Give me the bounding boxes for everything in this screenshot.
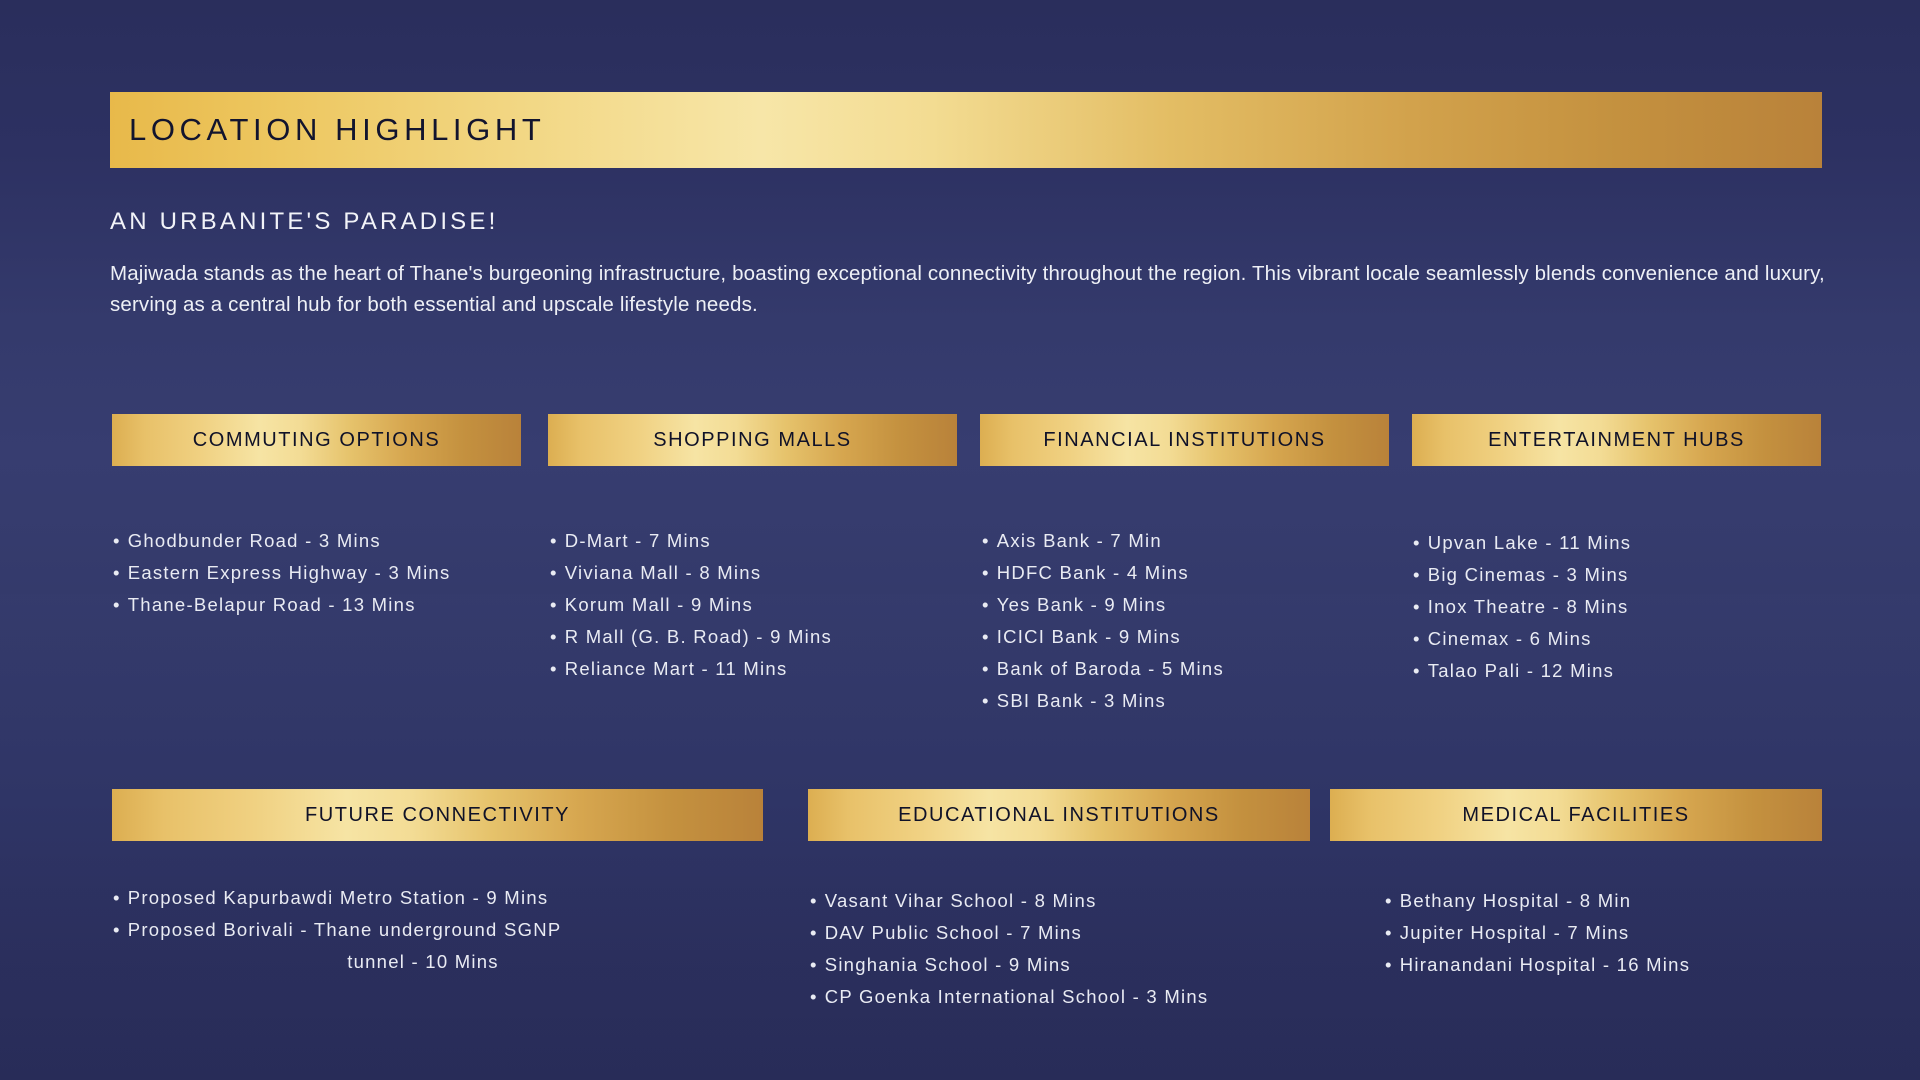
list-item: •Hiranandani Hospital - 16 Mins [1385,949,1690,981]
list-item: •Cinemax - 6 Mins [1413,623,1631,655]
list-item-label: ICICI Bank - 9 Mins [997,626,1181,647]
list-item-label: Upvan Lake - 11 Mins [1428,532,1632,553]
list-item-label: Thane-Belapur Road - 13 Mins [128,594,416,615]
list-item: •SBI Bank - 3 Mins [982,685,1224,717]
list-medical-facilities: •Bethany Hospital - 8 Min•Jupiter Hospit… [1385,885,1690,981]
list-item: •D-Mart - 7 Mins [550,525,832,557]
list-educational-institutions: •Vasant Vihar School - 8 Mins•DAV Public… [810,885,1208,1013]
list-item: •DAV Public School - 7 Mins [810,917,1208,949]
bullet-icon: • [113,589,121,621]
category-header-entertainment-hubs[interactable]: ENTERTAINMENT HUBS [1412,414,1821,466]
list-item: •Inox Theatre - 8 Mins [1413,591,1631,623]
bullet-icon: • [982,653,990,685]
list-item: •Jupiter Hospital - 7 Mins [1385,917,1690,949]
list-item-label: R Mall (G. B. Road) - 9 Mins [565,626,832,647]
list-item-label: Ghodbunder Road - 3 Mins [128,530,381,551]
list-item-label: Bank of Baroda - 5 Mins [997,658,1224,679]
bullet-icon: • [1413,655,1421,687]
list-item: •Big Cinemas - 3 Mins [1413,559,1631,591]
bullet-icon: • [1413,591,1421,623]
list-item: •CP Goenka International School - 3 Mins [810,981,1208,1013]
bullet-icon: • [810,949,818,981]
list-item-label: Viviana Mall - 8 Mins [565,562,762,583]
page-title: LOCATION HIGHLIGHT [110,112,545,148]
bullet-icon: • [113,557,121,589]
location-highlight-slide: LOCATION HIGHLIGHT AN URBANITE'S PARADIS… [0,0,1920,1080]
bullet-icon: • [810,885,818,917]
list-item-label: Proposed Borivali - Thane underground SG… [128,919,562,940]
list-item-label: SBI Bank - 3 Mins [997,690,1166,711]
category-title: SHOPPING MALLS [653,429,851,452]
list-shopping-malls: •D-Mart - 7 Mins•Viviana Mall - 8 Mins•K… [550,525,832,685]
bullet-icon: • [982,525,990,557]
category-header-medical-facilities[interactable]: MEDICAL FACILITIES [1330,789,1822,841]
category-title: EDUCATIONAL INSTITUTIONS [898,804,1220,827]
bullet-icon: • [550,589,558,621]
list-item: •Talao Pali - 12 Mins [1413,655,1631,687]
category-header-future-connectivity[interactable]: FUTURE CONNECTIVITY [112,789,763,841]
list-item-label: Proposed Kapurbawdi Metro Station - 9 Mi… [128,887,549,908]
list-item-label: Jupiter Hospital - 7 Mins [1400,922,1630,943]
bullet-icon: • [982,557,990,589]
bullet-icon: • [1413,623,1421,655]
list-item-label: DAV Public School - 7 Mins [825,922,1082,943]
bullet-icon: • [810,981,818,1013]
list-item: •ICICI Bank - 9 Mins [982,621,1224,653]
category-header-educational-institutions[interactable]: EDUCATIONAL INSTITUTIONS [808,789,1310,841]
list-item-continuation: tunnel - 10 Mins [113,946,733,978]
bullet-icon: • [113,914,121,946]
bullet-icon: • [550,621,558,653]
bullet-icon: • [113,882,121,914]
list-item-label: Bethany Hospital - 8 Min [1400,890,1632,911]
intro-paragraph: Majiwada stands as the heart of Thane's … [110,258,1825,320]
list-item-label: Reliance Mart - 11 Mins [565,658,788,679]
bullet-icon: • [550,653,558,685]
bullet-icon: • [1385,917,1393,949]
list-item-label: Inox Theatre - 8 Mins [1428,596,1629,617]
category-header-financial-institutions[interactable]: FINANCIAL INSTITUTIONS [980,414,1389,466]
bullet-icon: • [1385,885,1393,917]
list-item: •Bethany Hospital - 8 Min [1385,885,1690,917]
list-item-label: Yes Bank - 9 Mins [997,594,1167,615]
list-item: •Reliance Mart - 11 Mins [550,653,832,685]
category-title: FUTURE CONNECTIVITY [305,804,570,827]
list-item: •Korum Mall - 9 Mins [550,589,832,621]
list-item-label: Big Cinemas - 3 Mins [1428,564,1629,585]
list-item-label: Hiranandani Hospital - 16 Mins [1400,954,1690,975]
list-item-label: D-Mart - 7 Mins [565,530,711,551]
title-banner: LOCATION HIGHLIGHT [110,92,1822,168]
bullet-icon: • [982,685,990,717]
category-title: MEDICAL FACILITIES [1462,804,1689,827]
list-commuting-options: •Ghodbunder Road - 3 Mins•Eastern Expres… [113,525,450,621]
list-item: •Yes Bank - 9 Mins [982,589,1224,621]
list-item: •Proposed Borivali - Thane underground S… [113,914,733,978]
list-item-label: Korum Mall - 9 Mins [565,594,753,615]
list-financial-institutions: •Axis Bank - 7 Min•HDFC Bank - 4 Mins•Ye… [982,525,1224,717]
list-future-connectivity: •Proposed Kapurbawdi Metro Station - 9 M… [113,882,733,978]
list-item: •Eastern Express Highway - 3 Mins [113,557,450,589]
list-item-label: CP Goenka International School - 3 Mins [825,986,1209,1007]
bullet-icon: • [113,525,121,557]
list-item: •Axis Bank - 7 Min [982,525,1224,557]
list-item: •Thane-Belapur Road - 13 Mins [113,589,450,621]
list-item-label: HDFC Bank - 4 Mins [997,562,1189,583]
bullet-icon: • [982,589,990,621]
list-item: •Viviana Mall - 8 Mins [550,557,832,589]
list-item: •Singhania School - 9 Mins [810,949,1208,981]
bullet-icon: • [1413,559,1421,591]
bullet-icon: • [982,621,990,653]
list-item: •Upvan Lake - 11 Mins [1413,527,1631,559]
list-entertainment-hubs: •Upvan Lake - 11 Mins•Big Cinemas - 3 Mi… [1413,527,1631,687]
bullet-icon: • [550,557,558,589]
bullet-icon: • [1385,949,1393,981]
bullet-icon: • [1413,527,1421,559]
list-item: •Bank of Baroda - 5 Mins [982,653,1224,685]
list-item: •Proposed Kapurbawdi Metro Station - 9 M… [113,882,733,914]
list-item-label: Vasant Vihar School - 8 Mins [825,890,1097,911]
category-header-shopping-malls[interactable]: SHOPPING MALLS [548,414,957,466]
list-item-label: Cinemax - 6 Mins [1428,628,1592,649]
list-item: •Ghodbunder Road - 3 Mins [113,525,450,557]
bullet-icon: • [550,525,558,557]
category-title: FINANCIAL INSTITUTIONS [1043,429,1325,452]
bullet-icon: • [810,917,818,949]
list-item-label: Eastern Express Highway - 3 Mins [128,562,451,583]
list-item-label: Singhania School - 9 Mins [825,954,1071,975]
list-item: •Vasant Vihar School - 8 Mins [810,885,1208,917]
category-header-commuting-options[interactable]: COMMUTING OPTIONS [112,414,521,466]
list-item-label: Talao Pali - 12 Mins [1428,660,1614,681]
list-item: •HDFC Bank - 4 Mins [982,557,1224,589]
category-title: COMMUTING OPTIONS [193,429,440,452]
list-item-label: Axis Bank - 7 Min [997,530,1162,551]
list-item: •R Mall (G. B. Road) - 9 Mins [550,621,832,653]
category-title: ENTERTAINMENT HUBS [1488,429,1745,452]
subtitle: AN URBANITE'S PARADISE! [110,208,498,236]
